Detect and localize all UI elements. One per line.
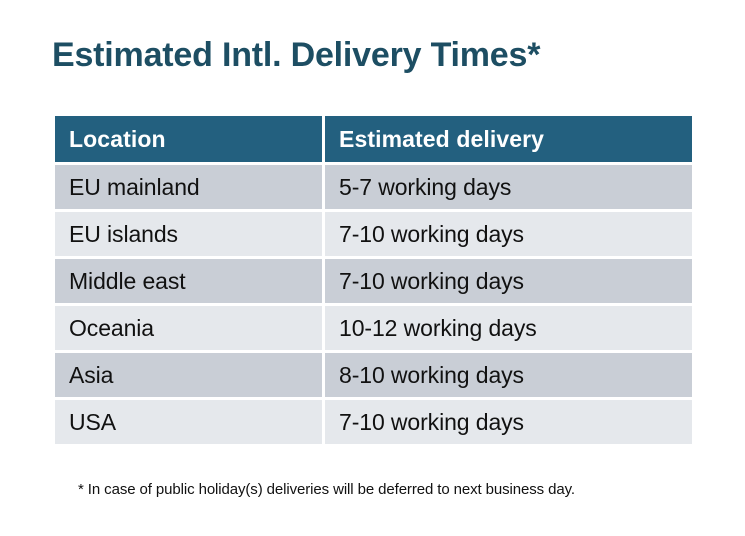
page-title: Estimated Intl. Delivery Times* [52,37,540,74]
cell-location: Middle east [55,259,322,303]
table-row: EU mainland 5-7 working days [55,165,692,209]
table-row: Asia 8-10 working days [55,353,692,397]
cell-estimated-delivery: 7-10 working days [325,212,692,256]
table-row: Oceania 10-12 working days [55,306,692,350]
cell-location: Asia [55,353,322,397]
delivery-times-panel: Estimated Intl. Delivery Times* Location… [0,0,745,536]
table-header-row: Location Estimated delivery [55,116,692,162]
cell-location: EU islands [55,212,322,256]
column-header-location: Location [55,116,322,162]
cell-estimated-delivery: 8-10 working days [325,353,692,397]
cell-location: EU mainland [55,165,322,209]
table-row: Middle east 7-10 working days [55,259,692,303]
table-header: Location Estimated delivery [55,116,692,162]
table-row: EU islands 7-10 working days [55,212,692,256]
table-body: EU mainland 5-7 working days EU islands … [55,165,692,444]
cell-location: USA [55,400,322,444]
footnote: * In case of public holiday(s) deliverie… [78,481,575,498]
cell-estimated-delivery: 10-12 working days [325,306,692,350]
cell-location: Oceania [55,306,322,350]
column-header-estimated-delivery: Estimated delivery [325,116,692,162]
cell-estimated-delivery: 7-10 working days [325,259,692,303]
cell-estimated-delivery: 7-10 working days [325,400,692,444]
delivery-times-table: Location Estimated delivery EU mainland … [52,113,695,447]
cell-estimated-delivery: 5-7 working days [325,165,692,209]
table-row: USA 7-10 working days [55,400,692,444]
